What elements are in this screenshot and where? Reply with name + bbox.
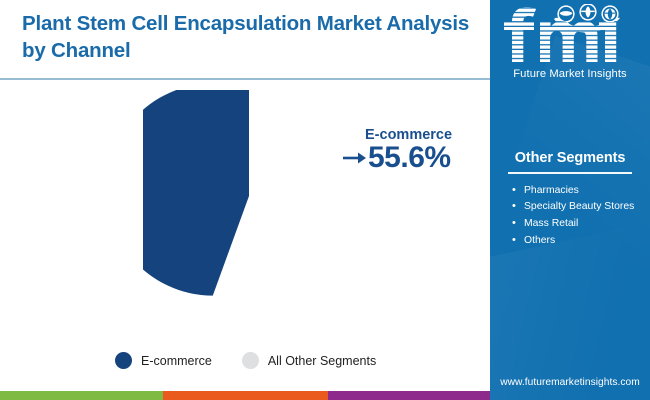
legend-item-e-commerce[interactable]: E-commerce xyxy=(115,352,212,369)
bottom-bar-segment-purple xyxy=(328,391,490,400)
list-item: Pharmacies xyxy=(512,183,650,200)
website-url[interactable]: www.futuremarketinsights.com xyxy=(490,377,650,388)
list-item: Mass Retail xyxy=(512,216,650,233)
list-item: Others xyxy=(512,233,650,250)
logo-tagline: Future Market Insights xyxy=(490,68,650,80)
arrow-right-icon xyxy=(343,149,367,167)
fmi-logo[interactable]: Future Market Insights xyxy=(490,4,650,80)
page-title-text: Plant Stem Cell Encapsulation Market Ana… xyxy=(22,10,477,64)
legend-swatch-icon xyxy=(115,352,132,369)
logo-globe-icons xyxy=(557,4,618,23)
callout-e-commerce: E-commerce 55.6% xyxy=(343,128,493,173)
page-title: Plant Stem Cell Encapsulation Market Ana… xyxy=(22,10,477,64)
other-segments-title: Other Segments xyxy=(490,150,650,166)
header-divider xyxy=(0,78,490,80)
bottom-bar-segment-green xyxy=(0,391,163,400)
other-segments-box: Other Segments Pharmacies Specialty Beau… xyxy=(490,150,650,250)
legend-label: All Other Segments xyxy=(268,354,376,368)
fmi-logo-icon xyxy=(500,4,640,66)
side-panel: Future Market Insights Other Segments Ph… xyxy=(490,0,650,400)
pie-slice-e-commerce xyxy=(143,90,249,296)
legend-item-all-other-segments[interactable]: All Other Segments xyxy=(242,352,376,369)
legend-label: E-commerce xyxy=(141,354,212,368)
other-segments-divider xyxy=(508,172,632,174)
pie-chart xyxy=(143,90,355,302)
legend-swatch-icon xyxy=(242,352,259,369)
other-segments-list: Pharmacies Specialty Beauty Stores Mass … xyxy=(490,183,650,250)
list-item: Specialty Beauty Stores xyxy=(512,199,650,216)
callout-value: 55.6% xyxy=(368,143,451,173)
pie-chart-svg xyxy=(143,90,355,302)
chart-legend: E-commerce All Other Segments xyxy=(115,352,376,369)
bottom-bar-segment-orange xyxy=(163,391,328,400)
bottom-accent-bar xyxy=(0,391,490,400)
infographic-root: Plant Stem Cell Encapsulation Market Ana… xyxy=(0,0,650,400)
